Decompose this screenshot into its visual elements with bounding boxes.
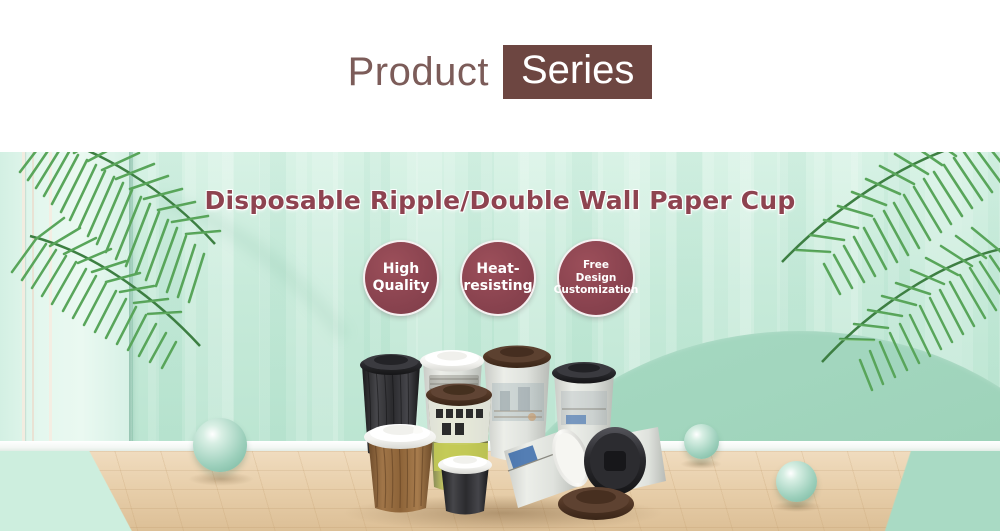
sphere-shadow <box>188 472 254 486</box>
page-header: Product Series <box>0 0 1000 152</box>
badge-free-design-customization[interactable]: Free Design Customization <box>557 239 635 317</box>
badge-line: Design <box>554 272 639 284</box>
badge-line: Free <box>554 259 639 271</box>
badge-line: High <box>373 261 430 278</box>
decor-sphere-right <box>776 461 817 502</box>
title-word-product: Product <box>348 50 489 95</box>
cup-tipped-black-lid <box>584 427 666 495</box>
decor-sphere-mid <box>684 424 719 459</box>
badge-heat-resisting[interactable]: Heat- resisting <box>460 240 536 316</box>
cup-small-black-white-lid <box>438 456 492 515</box>
sphere-shadow <box>680 459 722 469</box>
cup-brown-ripple-white-lid <box>364 424 436 513</box>
decor-sphere-left <box>193 418 247 472</box>
badge-line: resisting <box>463 278 532 295</box>
banner-headline: Disposable Ripple/Double Wall Paper Cup <box>0 186 1000 215</box>
floor-mask-left <box>0 451 210 531</box>
sphere-shadow <box>772 501 822 512</box>
badge-line: Quality <box>373 278 430 295</box>
badge-line: Heat- <box>463 261 532 278</box>
badge-line: Customization <box>554 284 639 296</box>
title-chip-series: Series <box>503 45 652 99</box>
page-root: Product Series <box>0 0 1000 531</box>
paper-cups-group <box>328 331 678 531</box>
badge-high-quality[interactable]: High Quality <box>363 240 439 316</box>
product-banner: Disposable Ripple/Double Wall Paper Cup … <box>0 152 1000 531</box>
page-title: Product Series <box>348 45 653 99</box>
feature-badges: High Quality Heat- resisting Free Design… <box>360 240 645 322</box>
